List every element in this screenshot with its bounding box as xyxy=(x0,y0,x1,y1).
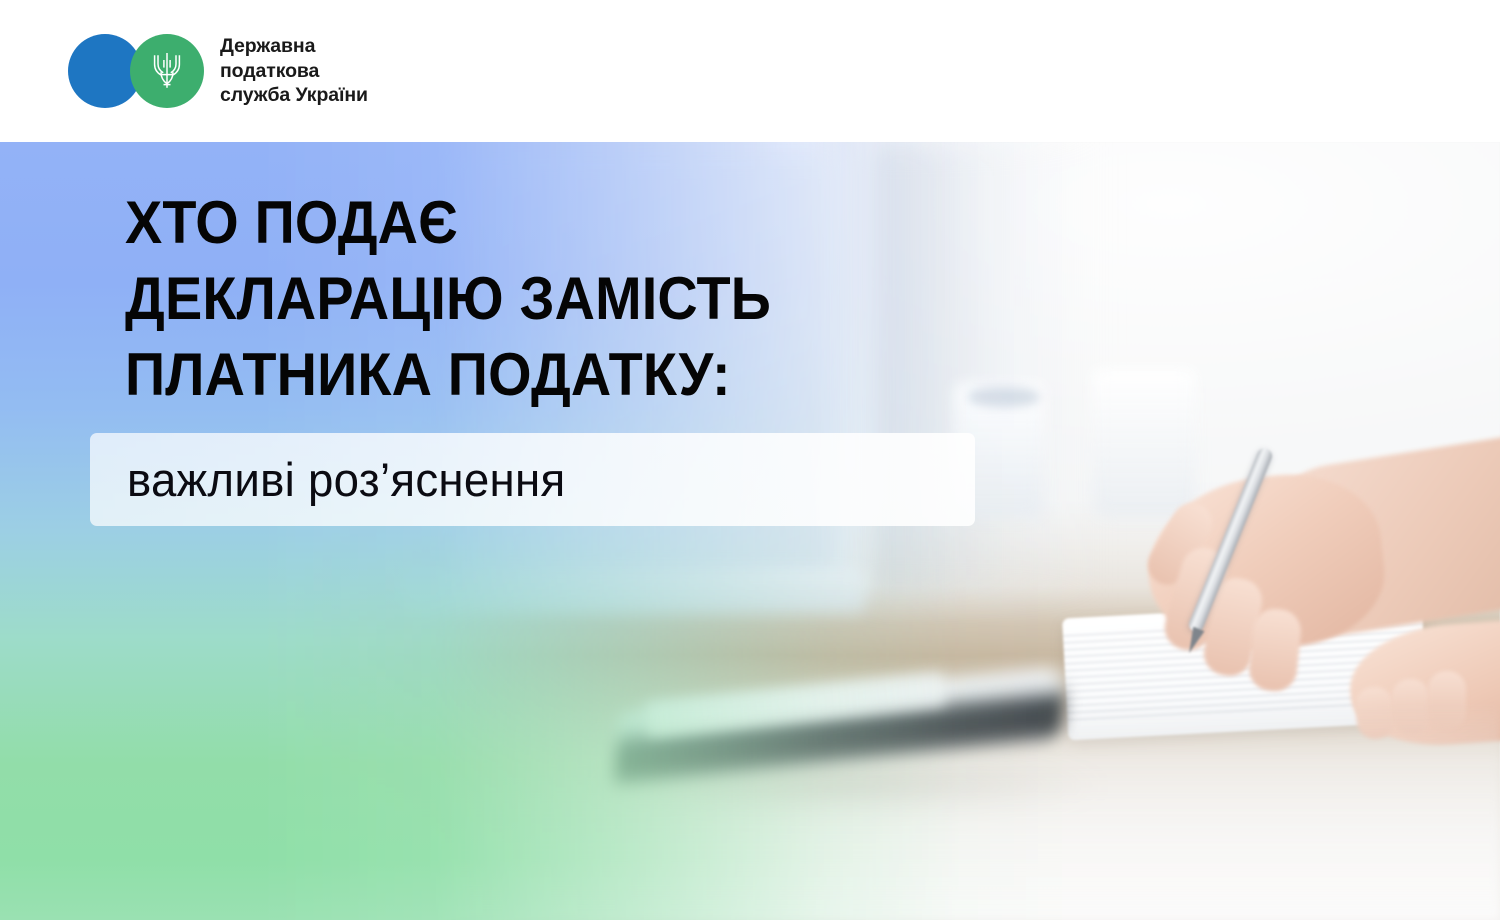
logo-text-line-1: Державна xyxy=(220,34,368,59)
headline-line-3: ПЛАТНИКА ПОДАТКУ: xyxy=(125,337,962,413)
logo-lockup[interactable]: Державна податкова служба України xyxy=(68,34,368,109)
ukraine-trident-icon xyxy=(152,51,182,91)
header-bar: Державна податкова служба України xyxy=(0,0,1500,142)
headline-line-2: ДЕКЛАРАЦІЮ ЗАМІСТЬ xyxy=(125,261,962,337)
subtitle-band: важливі роз’яснення xyxy=(90,433,975,526)
logo-text: Державна податкова служба України xyxy=(220,34,368,109)
logo-text-line-3: служба України xyxy=(220,83,368,108)
poster-banner: ХТО ПОДАЄ ДЕКЛАРАЦІЮ ЗАМІСТЬ ПЛАТНИКА ПО… xyxy=(0,0,1500,920)
headline-line-1: ХТО ПОДАЄ xyxy=(125,185,962,261)
page-title: ХТО ПОДАЄ ДЕКЛАРАЦІЮ ЗАМІСТЬ ПЛАТНИКА ПО… xyxy=(125,185,962,413)
logo-text-line-2: податкова xyxy=(220,59,368,84)
green-circle-icon xyxy=(130,34,204,108)
logo-circles xyxy=(68,34,204,108)
subtitle-text: важливі роз’яснення xyxy=(127,456,565,503)
